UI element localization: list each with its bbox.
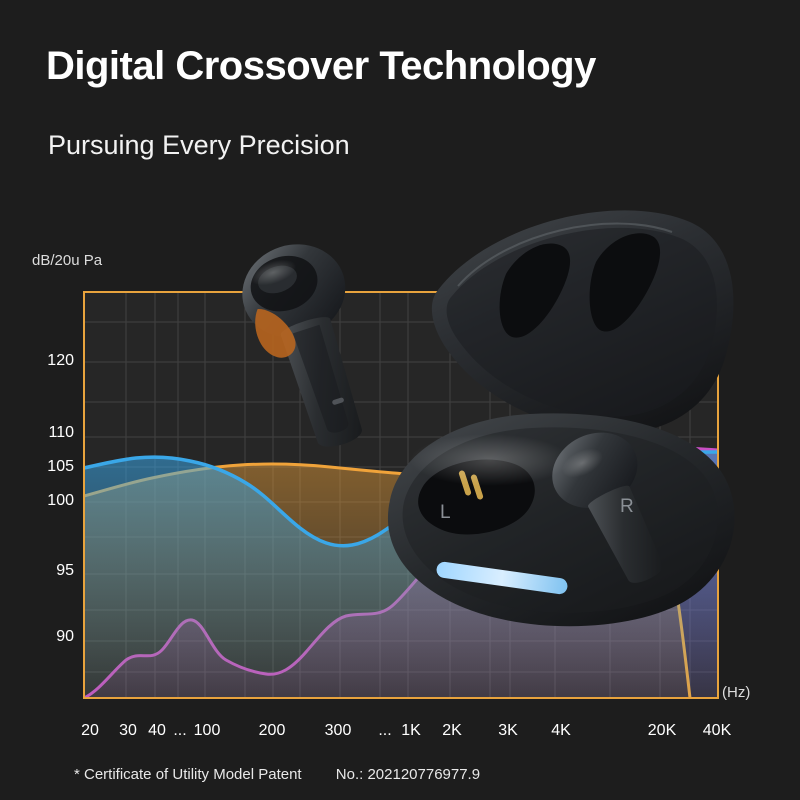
x-tick-20k: 20K	[648, 722, 676, 740]
x-tick-3k: 3K	[498, 722, 518, 740]
case-left-marking: L	[440, 502, 451, 523]
footnote-text: * Certificate of Utility Model Patent	[74, 766, 302, 783]
x-tick-ellipsis-1: ...	[173, 722, 186, 740]
y-tick-105: 105	[47, 458, 74, 476]
x-tick-1k: 1K	[401, 722, 421, 740]
x-tick-40: 40	[148, 722, 166, 740]
charging-case-lid	[432, 210, 734, 433]
product-photo: L R	[190, 170, 760, 670]
product-infographic: L R Digital Crossover Technology Pursuin…	[0, 0, 800, 800]
x-tick-40k: 40K	[703, 722, 731, 740]
page-title: Digital Crossover Technology	[46, 44, 596, 89]
patent-number: 202120776977.9	[367, 766, 480, 783]
page-subtitle: Pursuing Every Precision	[48, 130, 350, 161]
patent-label: No.:	[336, 766, 364, 783]
x-tick-4k: 4K	[551, 722, 571, 740]
y-tick-95: 95	[56, 562, 74, 580]
charging-case-base: L R	[388, 413, 735, 626]
footnote: * Certificate of Utility Model Patent No…	[74, 766, 480, 783]
earbud-single	[230, 231, 393, 460]
y-axis-ticks: 120 110 105 100 95 90	[0, 0, 74, 800]
x-tick-200: 200	[259, 722, 286, 740]
x-tick-300: 300	[325, 722, 352, 740]
y-tick-120: 120	[47, 352, 74, 370]
x-tick-20: 20	[81, 722, 99, 740]
y-tick-90: 90	[56, 628, 74, 646]
x-axis-unit-label: (Hz)	[722, 684, 750, 701]
x-axis-ticks: 20 30 40 ... 100 200 300 ... 1K 2K 3K 4K…	[0, 722, 800, 746]
x-tick-100: 100	[194, 722, 221, 740]
y-tick-110: 110	[48, 424, 74, 442]
x-tick-ellipsis-2: ...	[378, 722, 391, 740]
y-tick-100: 100	[47, 492, 74, 510]
x-tick-2k: 2K	[442, 722, 462, 740]
x-tick-30: 30	[119, 722, 137, 740]
case-right-marking: R	[620, 496, 634, 517]
